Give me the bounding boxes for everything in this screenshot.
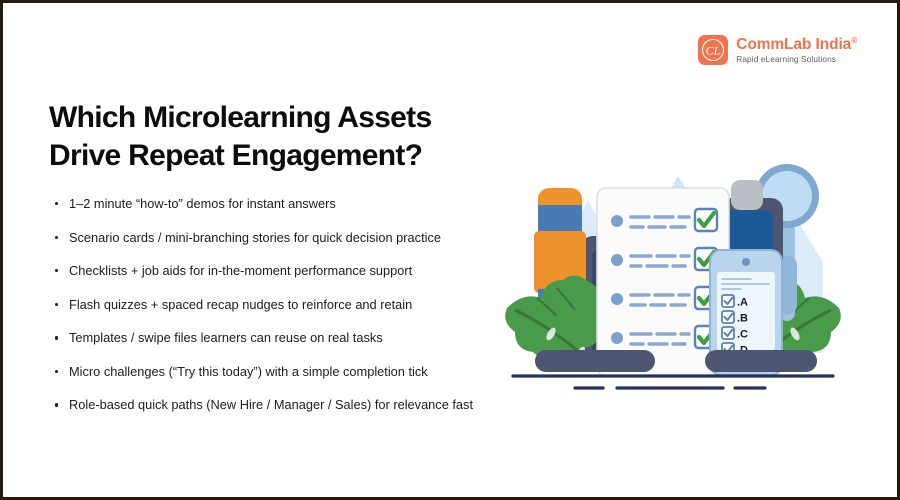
svg-text:CL: CL xyxy=(706,43,721,57)
registered-trademark-icon: ® xyxy=(851,36,857,45)
logo-tagline: Rapid eLearning Solutions xyxy=(736,55,857,63)
svg-text:.A: .A xyxy=(737,297,748,309)
list-item: Templates / swipe files learners can reu… xyxy=(51,329,511,348)
list-item: Micro challenges (“Try this today”) with… xyxy=(51,363,511,382)
list-item: Flash quizzes + spaced recap nudges to r… xyxy=(51,296,511,315)
commlab-monogram-icon: CL xyxy=(698,35,728,65)
list-item: Checklists + job aids for in-the-moment … xyxy=(51,262,511,281)
asset-list: 1–2 minute “how-to” demos for instant an… xyxy=(51,195,511,430)
page-title: Which Microlearning Assets Drive Repeat … xyxy=(49,99,519,176)
list-item: Scenario cards / mini-branching stories … xyxy=(51,229,511,248)
ground-line-icon xyxy=(513,376,833,388)
logo-text-block: CommLab India® Rapid eLearning Solutions xyxy=(736,37,857,64)
page-title-line-2: Drive Repeat Engagement? xyxy=(49,137,519,175)
brand-logo: CL CommLab India® Rapid eLearning Soluti… xyxy=(698,35,857,65)
slide-canvas: CL CommLab India® Rapid eLearning Soluti… xyxy=(0,0,900,500)
page-title-line-1: Which Microlearning Assets xyxy=(49,99,519,137)
list-item: Role-based quick paths (New Hire / Manag… xyxy=(51,396,511,415)
svg-text:.C: .C xyxy=(737,329,748,341)
list-item: 1–2 minute “how-to” demos for instant an… xyxy=(51,195,511,214)
svg-text:.B: .B xyxy=(737,313,748,325)
logo-company-name: CommLab India® xyxy=(736,37,857,53)
microlearning-checklist-illustration: .A .B .C .D xyxy=(493,138,853,403)
